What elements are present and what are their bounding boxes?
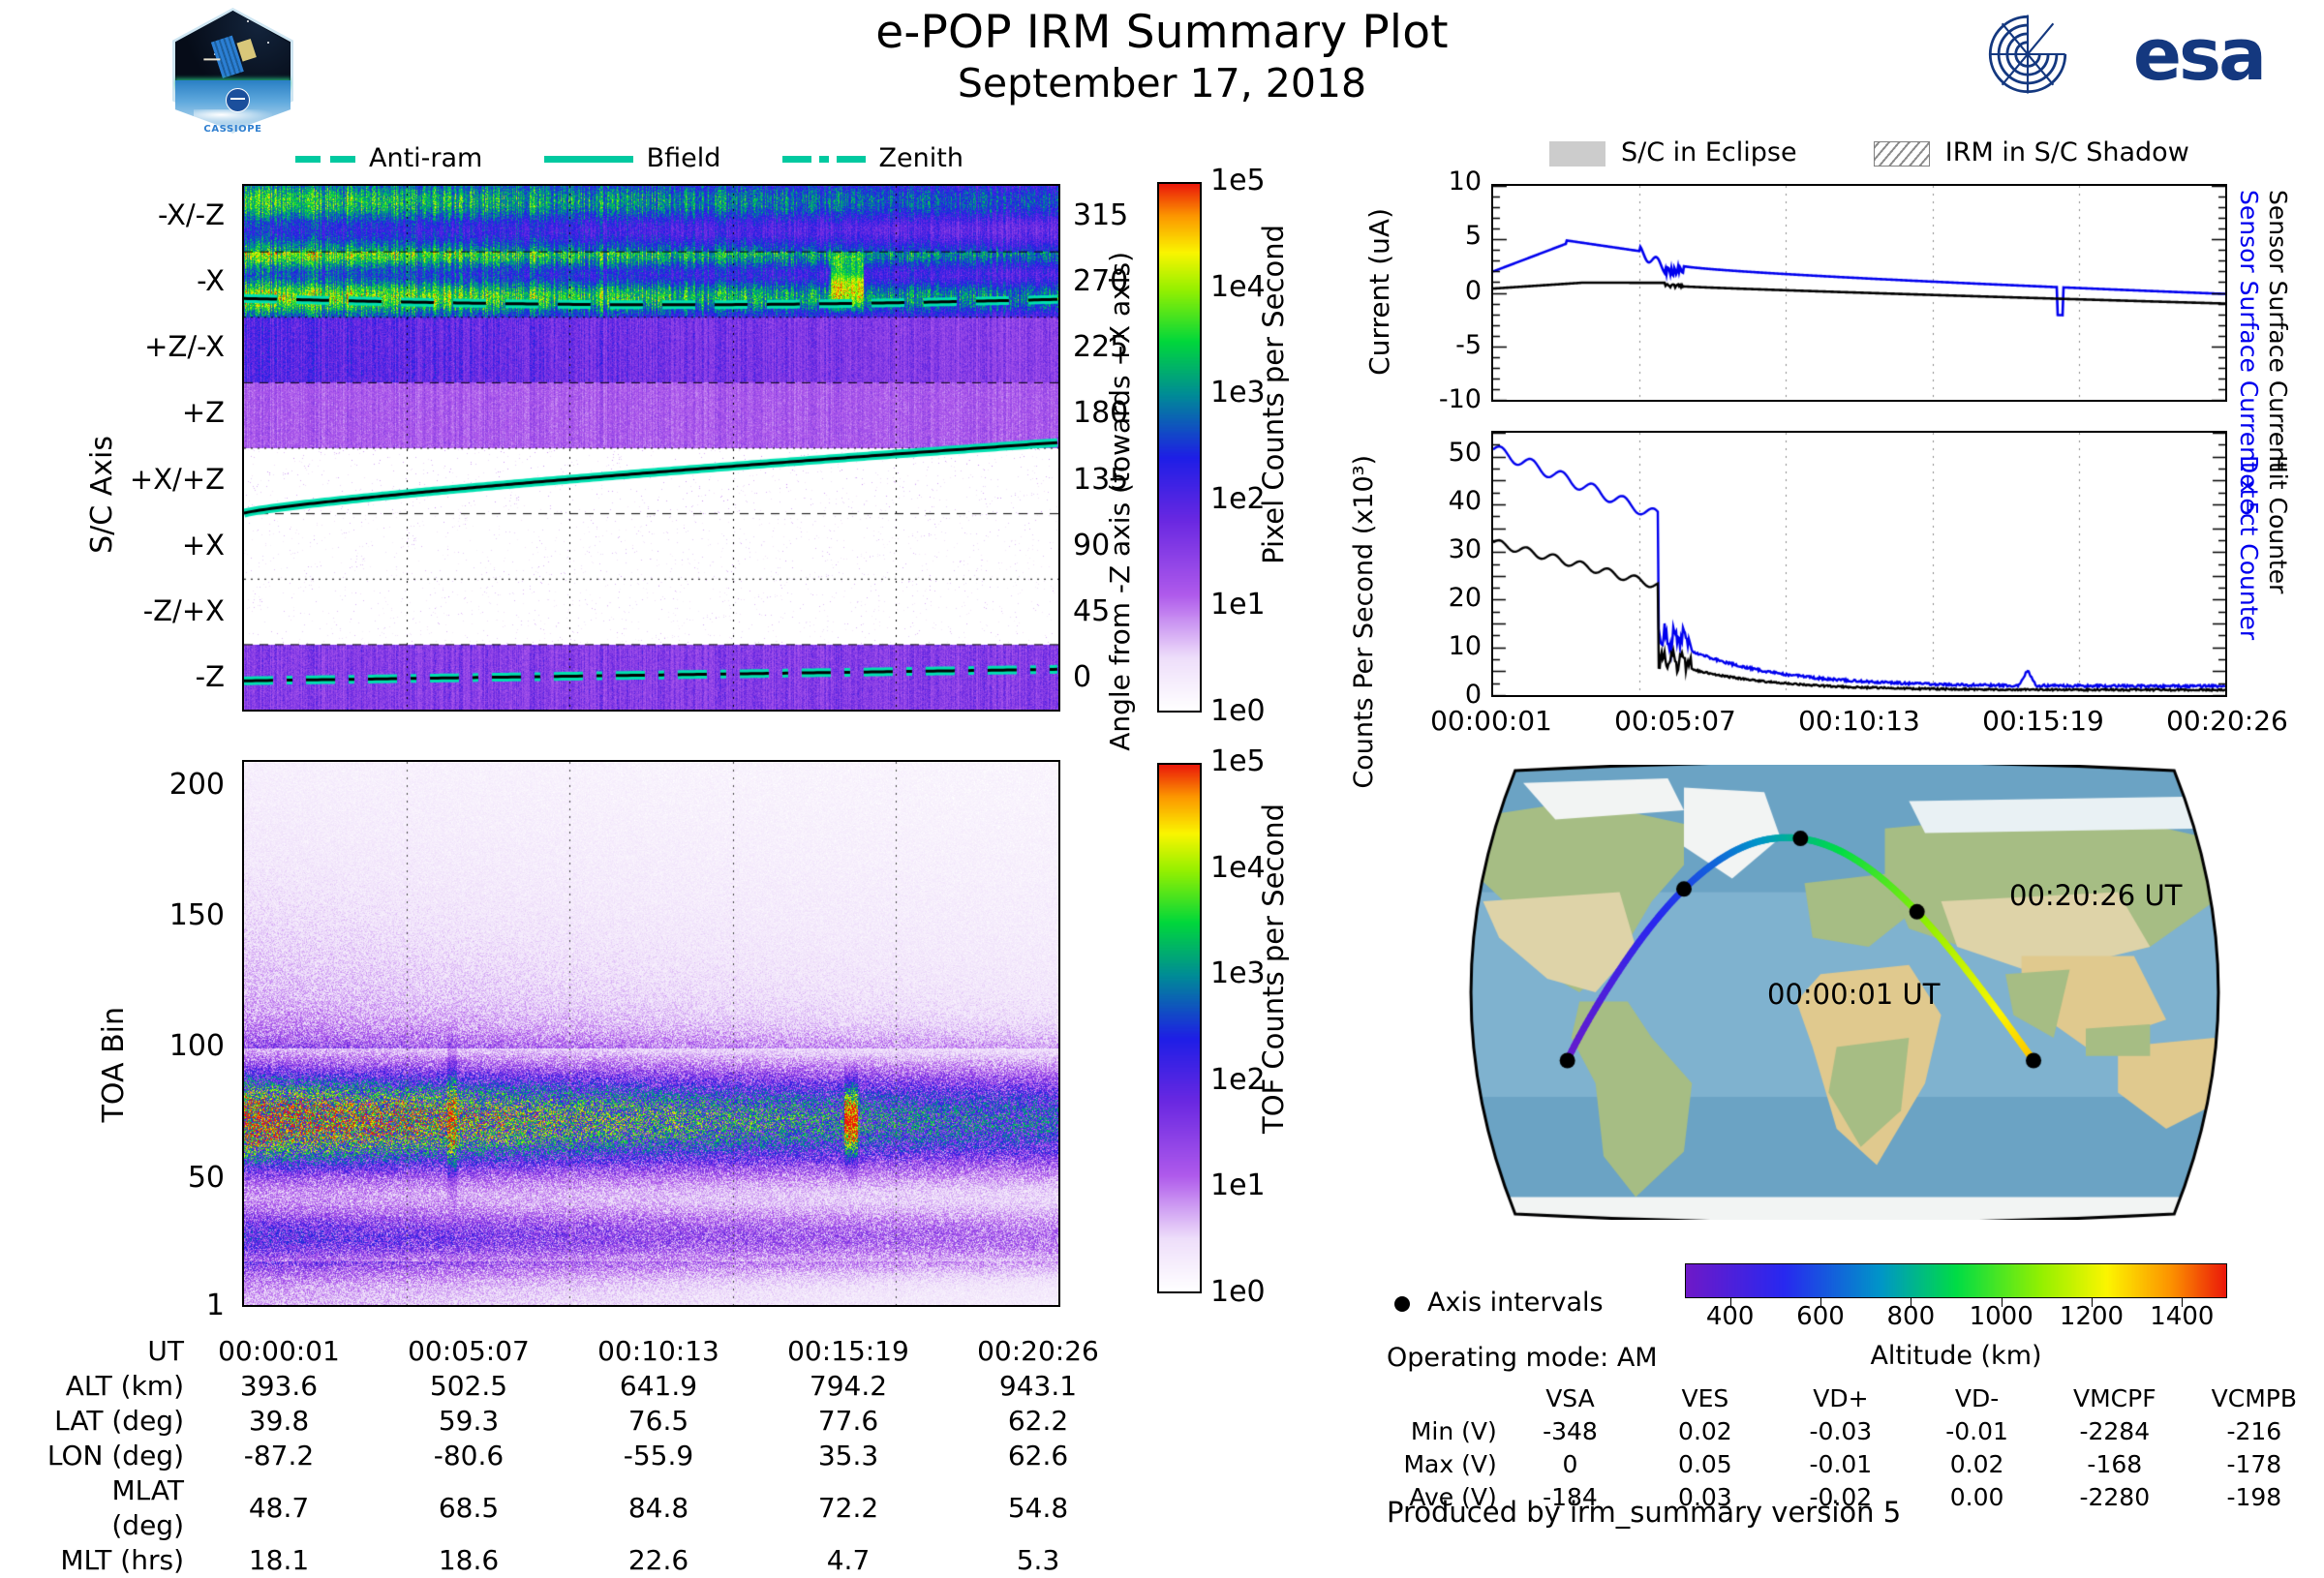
sc-axis-ytick: +Z [0,396,225,429]
sc-angle-axis-label: Angle from -Z axis (towards +X axis) [1104,252,1136,751]
altitude-tick-mark [1820,1298,1821,1307]
ephemeris-cell: 59.3 [374,1404,564,1439]
ephemeris-cell: 502.5 [374,1369,564,1404]
ephemeris-cell: 794.2 [753,1369,943,1404]
right-xtick: 00:10:13 [1772,705,1946,737]
right-xtick: 00:15:19 [1956,705,2130,737]
ephemeris-cell: 5.3 [943,1543,1133,1578]
voltage-column-header: VD- [1909,1382,2045,1415]
colorbar-tick: 1e1 [1210,588,1266,622]
ephemeris-cell: 48.7 [184,1473,374,1543]
ephemeris-row-label: MLAT (deg) [39,1473,184,1543]
spectrogram-legend: Anti-ram Bfield Zenith [295,143,963,173]
operating-mode-label: Operating mode: AM [1387,1343,1658,1373]
ephemeris-row-label: MLT (hrs) [39,1543,184,1578]
ephemeris-cell: 62.2 [943,1404,1133,1439]
voltage-column-header: VES [1637,1382,1772,1415]
sc-axis-ytick: -Z/+X [0,594,225,627]
voltage-cell: -348 [1503,1415,1637,1448]
counts-ylabel: Counts Per Second (x10³) [1348,455,1387,789]
altitude-tick-mark [1911,1298,1911,1307]
counts-ytick: 50 [1394,438,1482,468]
counts-ytick: 10 [1394,631,1482,661]
current-ytick: -10 [1394,384,1482,414]
sc-axis-spectrogram[interactable] [242,184,1060,712]
sc-axis-ytick: +X [0,529,225,561]
shadow-hatch-icon [1874,141,1930,167]
current-ytick: 0 [1394,276,1482,306]
ephemeris-row-label: LON (deg) [39,1439,184,1473]
ephemeris-cell: 393.6 [184,1369,374,1404]
voltage-cell: 0.02 [1637,1415,1772,1448]
toa-bin-ytick: 100 [0,1029,225,1063]
legend-item-irm-shadow: IRM in S/C Shadow [1874,137,2189,167]
counts-ytick: 40 [1394,486,1482,516]
legend-item-zenith: Zenith [782,143,963,173]
voltage-cell: -0.01 [1909,1415,2045,1448]
axis-interval-dot-icon [1394,1296,1410,1312]
page-title: e-POP IRM Summary Plot [0,6,2324,59]
ephemeris-cell: 72.2 [753,1473,943,1543]
right-xtick: 00:05:07 [1588,705,1762,737]
current-ytick: 10 [1394,167,1482,197]
ephemeris-cell: 18.1 [184,1543,374,1578]
cassiope-roundel-icon [226,88,250,112]
voltage-cell: -2284 [2045,1415,2185,1448]
ephemeris-cell: 641.9 [564,1369,753,1404]
anti-ram-line-icon [295,156,321,163]
voltage-cell: -198 [2185,1481,2324,1514]
ephemeris-cell: 00:05:07 [374,1334,564,1369]
ephemeris-row-label: ALT (km) [39,1369,184,1404]
esa-logo-text: esa [2133,14,2264,97]
table-row: MLAT (deg)48.768.584.872.254.8 [39,1473,1133,1543]
pixel-counts-colorbar-label: Pixel Counts per Second [1257,225,1290,564]
table-row: Min (V)-3480.02-0.03-0.01-2284-216 [1385,1415,2324,1448]
current-ytick: -5 [1394,330,1482,360]
right-xtick: 00:20:26 [2140,705,2314,737]
cassiope-mission-logo: CASSIOPE [172,8,293,134]
zenith-line-icon [782,156,811,163]
ephemeris-row-label: LAT (deg) [39,1404,184,1439]
table-row: UT00:00:0100:05:0700:10:1300:15:1900:20:… [39,1334,1133,1369]
altitude-colorbar-label: Altitude (km) [1685,1341,2227,1371]
ephemeris-cell: 68.5 [374,1473,564,1543]
counts-right-label-black: Hit Counter [2264,455,2292,593]
toa-bin-ytick: 1 [0,1289,225,1322]
current-right-label-black: Sensor Surface Current [2264,190,2292,471]
voltage-cell: 0.00 [1909,1481,2045,1514]
colorbar-tick: 1e1 [1210,1168,1266,1202]
counts-ytick: 20 [1394,583,1482,613]
ephemeris-cell: 35.3 [753,1439,943,1473]
ephemeris-row-label: UT [39,1334,184,1369]
voltage-row-label: Min (V) [1385,1415,1503,1448]
table-row: LON (deg)-87.2-80.6-55.935.362.6 [39,1439,1133,1473]
ephemeris-cell: -87.2 [184,1439,374,1473]
altitude-tick-mark [2092,1298,2093,1307]
ephemeris-cell: 62.6 [943,1439,1133,1473]
ephemeris-cell: 39.8 [184,1404,374,1439]
current-ylabel: Current (uA) [1363,208,1395,376]
voltage-column-header: VD+ [1773,1382,1910,1415]
colorbar-tick: 1e5 [1210,744,1266,778]
legend-item-anti-ram: Anti-ram [295,143,491,173]
voltage-cell: -0.01 [1773,1448,1910,1481]
ephemeris-cell: 4.7 [753,1543,943,1578]
voltage-cell: 0.02 [1909,1448,2045,1481]
voltage-cell: 0 [1503,1448,1637,1481]
sc-angle-ytick: 315 [1073,198,1128,232]
sc-axis-ytick: -X/-Z [0,198,225,231]
ephemeris-cell: 77.6 [753,1404,943,1439]
current-plot[interactable] [1491,184,2227,402]
legend-item-bfield: Bfield [544,143,729,173]
eclipse-legend: S/C in Eclipse IRM in S/C Shadow [1549,137,2189,167]
map-start-time-label: 00:00:01 UT [1767,978,1940,1011]
table-row: ALT (km)393.6502.5641.9794.2943.1 [39,1369,1133,1404]
ephemeris-cell: 943.1 [943,1369,1133,1404]
voltage-header-row: VSAVESVD+VD-VMCPFVCMPB [1385,1382,2324,1415]
voltage-column-header: VCMPB [2185,1382,2324,1415]
altitude-colorbar [1685,1263,2227,1298]
toa-bin-ylabel: TOA Bin [97,1007,131,1122]
ephemeris-cell: 18.6 [374,1543,564,1578]
right-xtick: 00:00:01 [1404,705,1578,737]
sc-axis-ytick: -Z [0,660,225,693]
eclipse-swatch-icon [1549,141,1605,167]
voltage-column-header: VMCPF [2045,1382,2185,1415]
esa-swirl-icon [1983,12,2072,97]
voltage-summary-table: VSAVESVD+VD-VMCPFVCMPBMin (V)-3480.02-0.… [1385,1382,2324,1514]
ephemeris-table: UT00:00:0100:05:0700:10:1300:15:1900:20:… [39,1334,1133,1578]
voltage-column-header: VSA [1503,1382,1637,1415]
toa-bin-ytick: 50 [0,1161,225,1195]
tof-counts-colorbar [1157,763,1202,1293]
counts-plot[interactable] [1491,431,2227,697]
table-row: LAT (deg)39.859.376.577.662.2 [39,1404,1133,1439]
toa-bin-spectrogram[interactable] [242,760,1060,1307]
ephemeris-cell: 76.5 [564,1404,753,1439]
voltage-cell: -178 [2185,1448,2324,1481]
counts-ytick: 30 [1394,534,1482,564]
voltage-cell: 0.05 [1637,1448,1772,1481]
cassiope-logo-text: CASSIOPE [172,124,293,135]
sc-axis-ytick: -X [0,264,225,297]
legend-item-sc-eclipse: S/C in Eclipse [1549,137,1805,167]
pixel-counts-colorbar [1157,182,1202,713]
esa-logo: esa [1983,8,2264,101]
ephemeris-cell: 84.8 [564,1473,753,1543]
sc-angle-ytick: 0 [1073,660,1091,694]
toa-bin-ytick: 150 [0,898,225,932]
produced-by-footer: Produced by irm_summary version 5 [1387,1496,1901,1529]
altitude-tick-mark [2182,1298,2183,1307]
table-row: Max (V)00.05-0.010.02-168-178 [1385,1448,2324,1481]
counts-right-label-blue: Detect Counter [2235,455,2263,640]
altitude-tick-mark [2002,1298,2003,1307]
ephemeris-cell: -55.9 [564,1439,753,1473]
map-end-time-label: 00:20:26 UT [2009,879,2182,912]
ephemeris-cell: 00:10:13 [564,1334,753,1369]
voltage-cell: -0.03 [1773,1415,1910,1448]
tof-counts-colorbar-label: TOF Counts per Second [1257,804,1290,1134]
sc-axis-ytick: +Z/-X [0,330,225,363]
altitude-tick-mark [1730,1298,1731,1307]
sc-axis-ytick: +X/+Z [0,463,225,496]
ephemeris-cell: -80.6 [374,1439,564,1473]
ephemeris-cell: 54.8 [943,1473,1133,1543]
voltage-cell: -216 [2185,1415,2324,1448]
table-row: MLT (hrs)18.118.622.64.75.3 [39,1543,1133,1578]
ephemeris-cell: 00:00:01 [184,1334,374,1369]
voltage-row-label: Max (V) [1385,1448,1503,1481]
voltage-corner [1385,1382,1503,1415]
colorbar-tick: 1e0 [1210,1275,1266,1309]
page-subtitle: September 17, 2018 [0,60,2324,106]
ephemeris-cell: 00:15:19 [753,1334,943,1369]
colorbar-tick: 1e5 [1210,164,1266,197]
current-ytick: 5 [1394,221,1482,251]
voltage-cell: -2280 [2045,1481,2185,1514]
ephemeris-cell: 00:20:26 [943,1334,1133,1369]
toa-bin-ytick: 200 [0,768,225,802]
bfield-line-icon [544,156,633,163]
ephemeris-cell: 22.6 [564,1543,753,1578]
voltage-cell: -168 [2045,1448,2185,1481]
colorbar-tick: 1e0 [1210,694,1266,728]
ground-track-map[interactable]: 00:00:01 UT 00:20:26 UT [1443,765,2247,1220]
axis-intervals-legend: Axis intervals [1394,1288,1604,1318]
